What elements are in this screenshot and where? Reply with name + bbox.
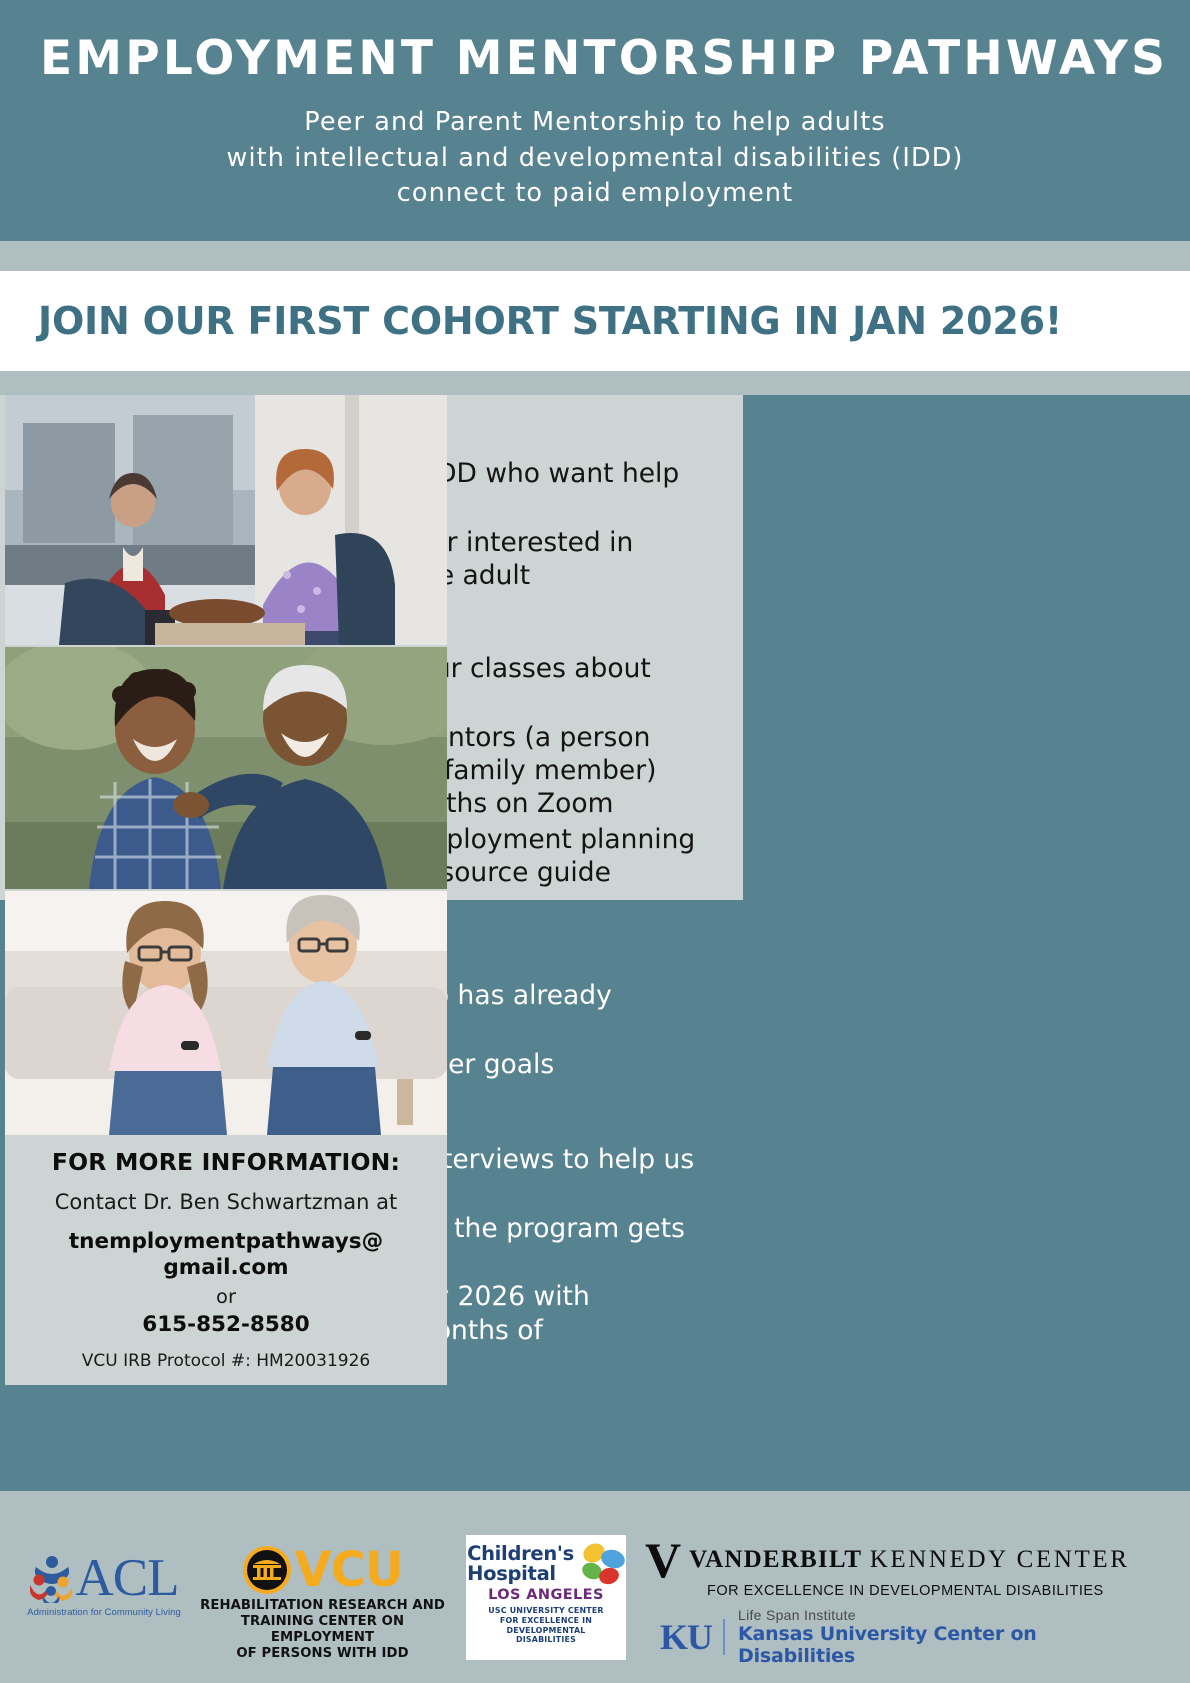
- acl-wordmark: ACL: [76, 1555, 179, 1603]
- vcu-subtitle-line-3: OF PERSONS WITH IDD: [190, 1646, 455, 1662]
- chla-butterfly-icon: [577, 1542, 625, 1586]
- divider-band-second: [0, 371, 1190, 395]
- contact-phone[interactable]: 615-852-8580: [5, 1312, 447, 1337]
- photo-two-men-smiling: [5, 647, 447, 889]
- photo-mentor-meeting: [5, 395, 447, 645]
- vcu-row: VCU: [190, 1545, 455, 1595]
- chla-ucedd-line-1: USC UNIVERSITY CENTER: [466, 1606, 626, 1616]
- acl-tagline: Administration for Community Living: [14, 1606, 194, 1617]
- vanderbilt-tagline: FOR EXCELLENCE IN DEVELOPMENTAL DISABILI…: [645, 1583, 1103, 1599]
- chla-name-line-2: Hospital: [467, 1564, 574, 1584]
- chla-ucedd-line-3: DEVELOPMENTAL: [466, 1626, 626, 1636]
- header-subtitle: Peer and Parent Mentorship to help adult…: [40, 105, 1150, 211]
- right-column: [743, 395, 1190, 1491]
- ku-institute: Life Span Institute: [738, 1607, 1100, 1624]
- logo-vcu: VCU REHABILITATION RESEARCH AND TRAINING…: [190, 1545, 455, 1662]
- irb-protocol: VCU IRB Protocol #: HM20031926: [5, 1351, 447, 1371]
- acl-row: ACL: [14, 1553, 194, 1603]
- header-subtitle-line-1: Peer and Parent Mentorship to help adult…: [40, 105, 1150, 140]
- vanderbilt-name: VANDERBILT KENNEDY CENTER: [689, 1546, 1129, 1574]
- ku-texts: Life Span Institute Kansas University Ce…: [725, 1607, 1100, 1667]
- divider-band-top: [0, 241, 1190, 271]
- chla-row: Children's Hospital: [466, 1542, 626, 1586]
- chla-nametext: Children's Hospital: [467, 1544, 574, 1584]
- cohort-banner: JOIN OUR FIRST COHORT STARTING IN JAN 20…: [0, 271, 1190, 371]
- page-title: EMPLOYMENT MENTORSHIP PATHWAYS: [40, 34, 1150, 83]
- header-subtitle-line-3: connect to paid employment: [40, 176, 1150, 211]
- vcu-subtitle-line-1: REHABILITATION RESEARCH AND: [190, 1598, 455, 1614]
- vandy-row: V VANDERBILT KENNEDY CENTER: [645, 1539, 1103, 1582]
- chla-ucedd: USC UNIVERSITY CENTER FOR EXCELLENCE IN …: [466, 1606, 626, 1645]
- logo-ku-center-on-disabilities: KU Life Span Institute Kansas University…: [660, 1607, 1100, 1667]
- photo-women-couch-graphic: [5, 891, 447, 1135]
- photo-two-men-graphic: [5, 647, 447, 889]
- vcu-seal-icon: [242, 1545, 292, 1595]
- vanderbilt-name-bold: VANDERBILT: [689, 1546, 862, 1573]
- header-subtitle-line-2: with intellectual and developmental disa…: [40, 141, 1150, 176]
- logo-childrens-hospital-la: Children's Hospital LOS ANGELES USC UNIV…: [466, 1535, 626, 1660]
- vanderbilt-name-light: KENNEDY CENTER: [870, 1546, 1130, 1573]
- contact-email[interactable]: tnemploymentpathways@ gmail.com: [5, 1229, 447, 1281]
- vcu-subtitle: REHABILITATION RESEARCH AND TRAINING CEN…: [190, 1598, 455, 1662]
- contact-person-line: Contact Dr. Ben Schwartzman at: [5, 1190, 447, 1214]
- chla-ucedd-line-4: DISABILITIES: [466, 1635, 626, 1645]
- contact-title: FOR MORE INFORMATION:: [5, 1148, 447, 1176]
- flyer-page: EMPLOYMENT MENTORSHIP PATHWAYS Peer and …: [0, 0, 1190, 1683]
- ku-wordmark: KU: [660, 1619, 725, 1655]
- body-content: WHO CAN JOIN: Adults (18 or older) with …: [0, 395, 1190, 1491]
- logo-vanderbilt-kennedy-center: V VANDERBILT KENNEDY CENTER FOR EXCELLEN…: [645, 1539, 1103, 1600]
- photo-stack: [5, 395, 447, 1135]
- vcu-wordmark: VCU: [294, 1546, 402, 1594]
- cohort-banner-text: JOIN OUR FIRST COHORT STARTING IN JAN 20…: [0, 299, 1062, 343]
- ku-row: KU Life Span Institute Kansas University…: [660, 1607, 1100, 1667]
- footer-logos: ACL Administration for Community Living …: [0, 1491, 1190, 1683]
- logo-acl: ACL Administration for Community Living: [14, 1553, 194, 1617]
- vanderbilt-v-mark: V: [645, 1539, 679, 1582]
- header-banner: EMPLOYMENT MENTORSHIP PATHWAYS Peer and …: [0, 0, 1190, 241]
- ku-center-name: Kansas University Center on Disabilities: [738, 1624, 1100, 1668]
- contact-or-label: or: [5, 1285, 447, 1308]
- acl-figures-icon: [30, 1553, 76, 1603]
- chla-name-line-1: Children's: [467, 1544, 574, 1564]
- photo-women-on-couch: [5, 891, 447, 1135]
- chla-city: LOS ANGELES: [466, 1587, 626, 1603]
- photo-mentor-meeting-graphic: [5, 395, 447, 645]
- chla-ucedd-line-2: FOR EXCELLENCE IN: [466, 1616, 626, 1626]
- vcu-subtitle-line-2: TRAINING CENTER ON EMPLOYMENT: [190, 1614, 455, 1646]
- contact-box: FOR MORE INFORMATION: Contact Dr. Ben Sc…: [5, 1135, 447, 1385]
